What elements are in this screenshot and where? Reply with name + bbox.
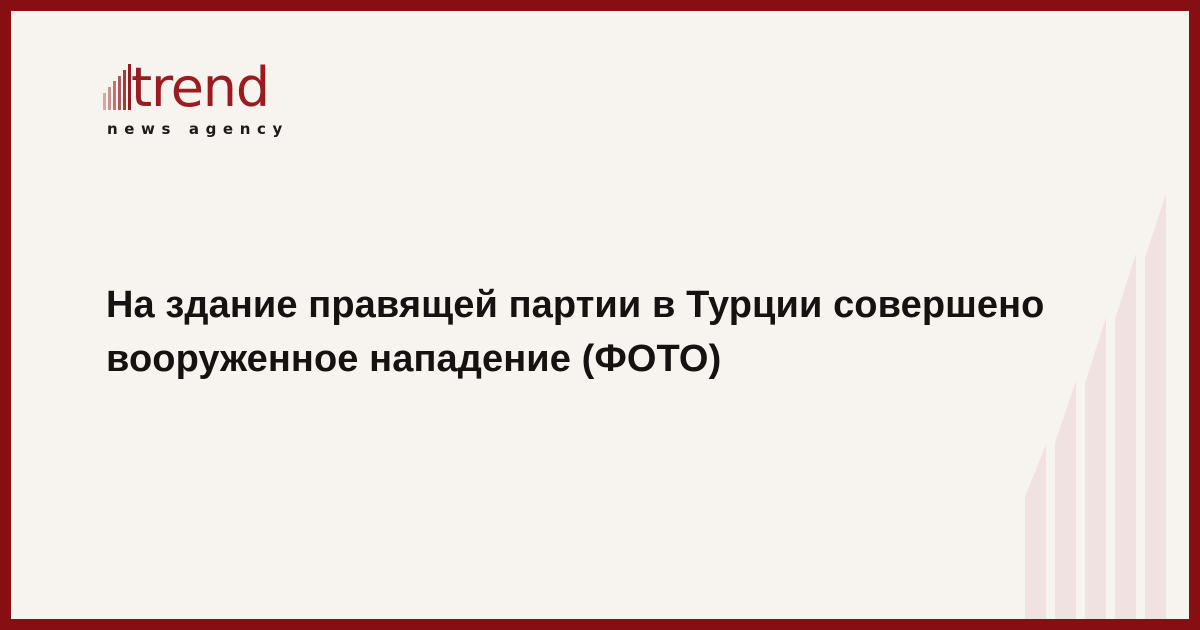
watermark-bar-5 xyxy=(1145,194,1166,619)
social-share-card: trend news agency На здание правящей пар… xyxy=(0,0,1200,630)
trend-logo[interactable]: trend news agency xyxy=(103,55,403,138)
ascending-bars-watermark xyxy=(1011,194,1166,619)
logo-mark-bar-2 xyxy=(108,87,111,110)
logo-mark-bar-3 xyxy=(113,81,116,110)
logo-mark-bar-4 xyxy=(118,76,121,110)
brand-wordmark: trend xyxy=(131,65,269,111)
brand-tagline: news agency xyxy=(107,120,403,138)
watermark-bar-4 xyxy=(1115,254,1136,620)
logo-row: trend xyxy=(103,55,403,111)
logo-mark-bar-1 xyxy=(103,93,106,110)
ascending-bars-logo-mark xyxy=(103,64,131,110)
article-headline: На здание правящей партии в Турции совер… xyxy=(106,279,1076,387)
watermark-bar-3 xyxy=(1085,317,1106,619)
watermark-bar-2 xyxy=(1055,381,1076,619)
watermark-bar-1 xyxy=(1025,445,1046,619)
logo-mark-bar-5 xyxy=(123,70,126,110)
